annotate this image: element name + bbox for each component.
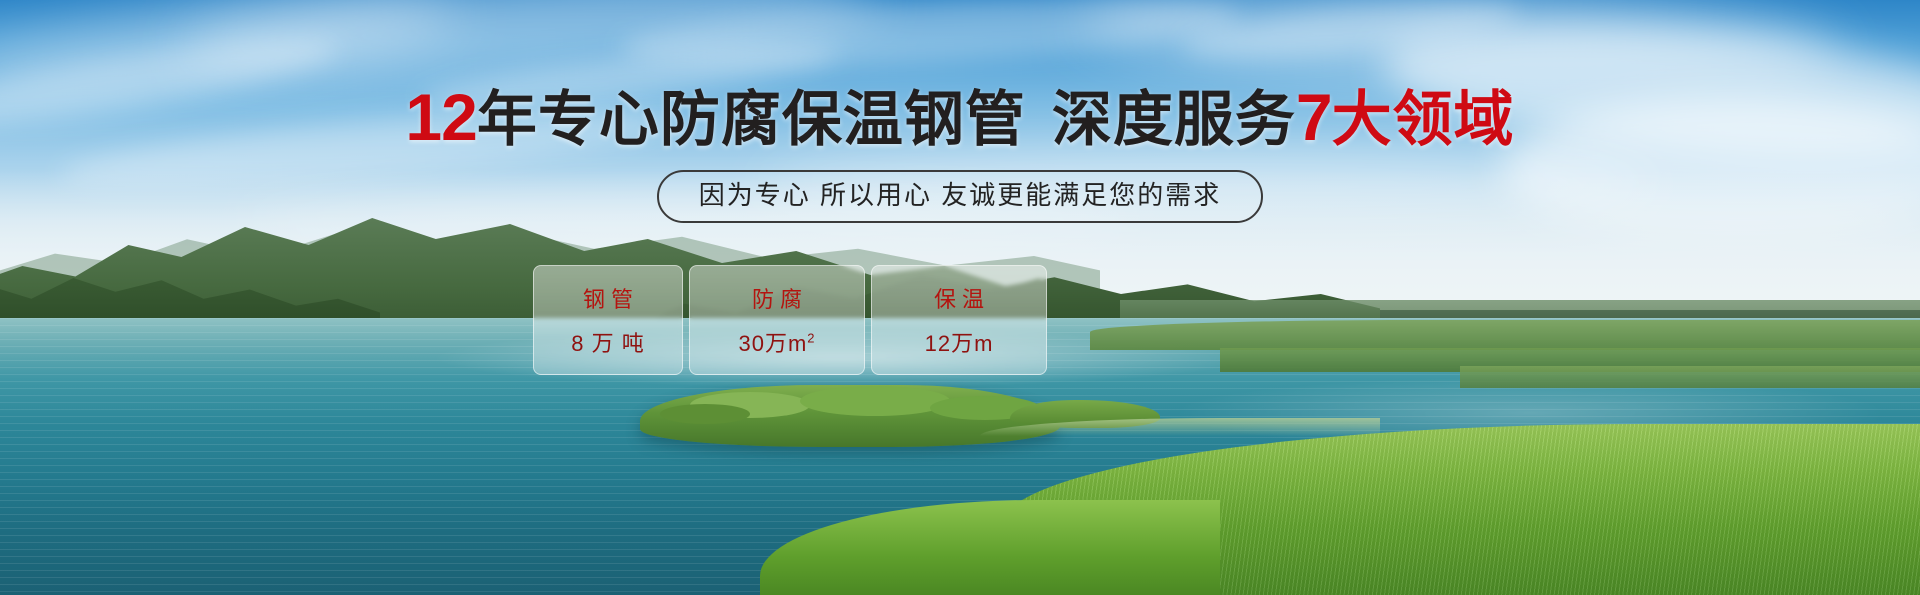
stat-card-label: 保温	[928, 282, 990, 314]
stat-card-value: 8 万 吨	[571, 326, 644, 358]
stat-card-superscript: 2	[807, 331, 815, 346]
stat-card-label: 防腐	[746, 282, 808, 314]
stat-card-value: 12万m	[925, 326, 994, 358]
headline-years-number: 12	[405, 80, 476, 154]
headline-part2: 深度服务	[1052, 86, 1296, 153]
stat-card-anticorrosion[interactable]: 防腐 30万m2	[689, 265, 865, 375]
headline-part3: 大领域	[1332, 86, 1515, 153]
subtitle-pill: 因为专心 所以用心 友诚更能满足您的需求	[657, 170, 1263, 223]
headline: 12年专心防腐保温钢管深度服务7大领域	[0, 84, 1920, 150]
banner-content: 12年专心防腐保温钢管深度服务7大领域 因为专心 所以用心 友诚更能满足您的需求…	[0, 0, 1920, 595]
hero-banner: 12年专心防腐保温钢管深度服务7大领域 因为专心 所以用心 友诚更能满足您的需求…	[0, 0, 1920, 595]
stat-card-steel-pipe[interactable]: 钢管 8 万 吨	[533, 265, 683, 375]
stat-card-insulation[interactable]: 保温 12万m	[871, 265, 1047, 375]
stat-card-label: 钢管	[577, 282, 639, 314]
stat-card-value: 30万m2	[738, 326, 815, 358]
stat-cards: 钢管 8 万 吨 防腐 30万m2 保温 12万m	[533, 265, 1047, 375]
subtitle-container: 因为专心 所以用心 友诚更能满足您的需求	[0, 170, 1920, 223]
stat-card-value-text: 30万m	[738, 331, 807, 356]
headline-fields-number: 7	[1296, 80, 1332, 154]
headline-part1: 年专心防腐保温钢管	[477, 86, 1026, 153]
